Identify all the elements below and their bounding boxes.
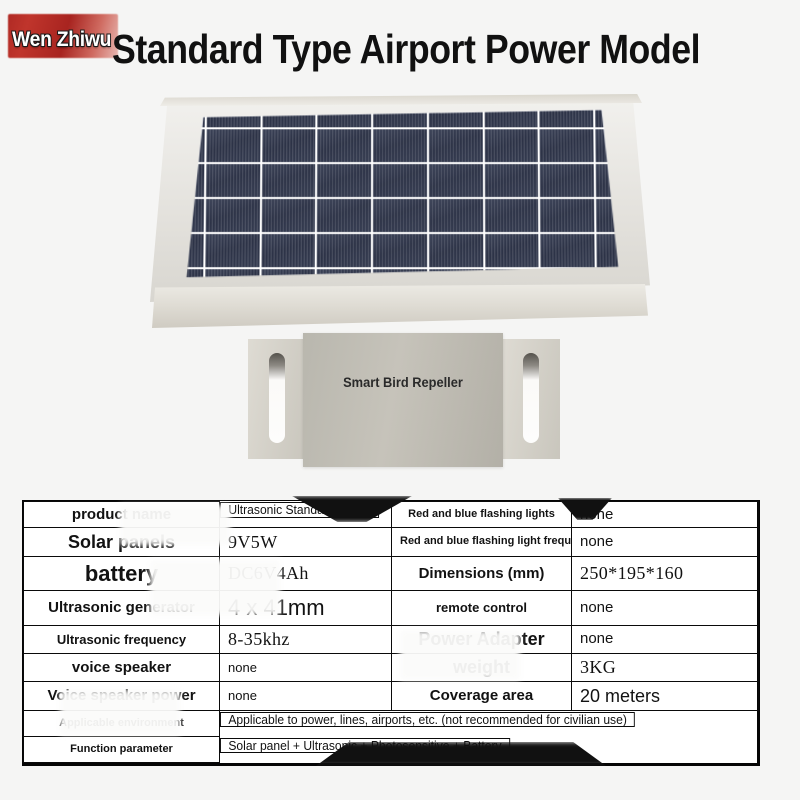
bracket-slot-icon bbox=[269, 353, 285, 443]
solar-cell bbox=[429, 129, 483, 162]
spec-label: Red and blue flashing light frequency bbox=[392, 528, 572, 556]
solar-cell bbox=[205, 199, 259, 232]
solar-cell bbox=[262, 164, 316, 197]
spec-label: Ultrasonic frequency bbox=[24, 625, 220, 653]
table-row: product nameUltrasonic Standard ModelRed… bbox=[24, 502, 759, 528]
spec-value: 20 meters bbox=[572, 682, 759, 710]
table-row: Solar panels9V5WRed and blue flashing li… bbox=[24, 528, 759, 556]
solar-cell bbox=[317, 199, 371, 232]
spec-value: none bbox=[220, 682, 392, 710]
spec-label: battery bbox=[24, 556, 220, 590]
spec-label: voice speaker bbox=[24, 654, 220, 682]
solar-cell bbox=[317, 234, 371, 267]
table-row: Ultrasonic generator4 x 41mmremote contr… bbox=[24, 591, 759, 625]
spec-value: 4 x 41mm bbox=[220, 591, 392, 625]
spec-value: none bbox=[572, 625, 759, 653]
solar-cell bbox=[373, 234, 427, 267]
device-housing: Smart Bird Repeller bbox=[303, 333, 503, 467]
spec-label: Function parameter bbox=[24, 737, 220, 763]
mounting-bracket-left bbox=[248, 339, 306, 459]
specification-table: product nameUltrasonic Standard ModelRed… bbox=[22, 500, 760, 766]
page-title: Standard Type Airport Power Model bbox=[112, 26, 700, 73]
solar-cell bbox=[485, 199, 539, 232]
spec-value: Solar panel + Ultrasonic + Photosensitiv… bbox=[220, 738, 510, 754]
solar-cell bbox=[484, 129, 538, 162]
spec-value: Ultrasonic Standard Model bbox=[220, 502, 379, 518]
solar-cell bbox=[373, 199, 427, 232]
solar-cell bbox=[485, 164, 539, 197]
spec-label: Applicable environment bbox=[24, 710, 220, 736]
spec-value: 3KG bbox=[572, 654, 759, 682]
mounting-bracket-right bbox=[502, 339, 560, 459]
product-spec-page: Wen Zhiwu Standard Type Airport Power Mo… bbox=[0, 0, 800, 800]
spec-value: none bbox=[572, 591, 759, 625]
solar-panel-assembly bbox=[150, 94, 650, 324]
table-row: Voice speaker powernoneCoverage area20 m… bbox=[24, 682, 759, 710]
solar-cell bbox=[261, 234, 315, 267]
spec-value: none bbox=[572, 528, 759, 556]
spec-value: 9V5W bbox=[220, 528, 392, 556]
solar-cell bbox=[373, 129, 427, 162]
solar-cell bbox=[429, 164, 483, 197]
spec-label: Red and blue flashing lights bbox=[392, 502, 572, 528]
spec-value: DC6V4Ah bbox=[220, 556, 392, 590]
brand-logo-label: Wen Zhiwu bbox=[12, 28, 108, 52]
solar-cell bbox=[373, 164, 427, 197]
spec-value: Applicable to power, lines, airports, et… bbox=[220, 712, 635, 728]
bracket-slot-icon bbox=[523, 353, 539, 443]
solar-cell bbox=[317, 164, 371, 197]
solar-cell bbox=[261, 199, 315, 232]
spec-value: 8-35khz bbox=[220, 625, 392, 653]
spec-label: remote control bbox=[392, 591, 572, 625]
spec-label: Power Adapter bbox=[392, 625, 572, 653]
spec-value: 250*195*160 bbox=[572, 556, 759, 590]
device-housing-label: Smart Bird Repeller bbox=[308, 375, 498, 390]
product-photo: Smart Bird Repeller bbox=[0, 86, 800, 496]
spec-label: Dimensions (mm) bbox=[392, 556, 572, 590]
spec-label: Solar panels bbox=[24, 528, 220, 556]
solar-cell bbox=[540, 129, 594, 162]
solar-cell bbox=[485, 234, 539, 267]
spec-label: product name bbox=[24, 502, 220, 528]
spec-label: Ultrasonic generator bbox=[24, 591, 220, 625]
table-row: batteryDC6V4AhDimensions (mm)250*195*160 bbox=[24, 556, 759, 590]
solar-cell bbox=[317, 129, 371, 162]
spec-label: Voice speaker power bbox=[24, 682, 220, 710]
solar-cell bbox=[206, 129, 260, 162]
spec-value: none bbox=[220, 654, 392, 682]
solar-cell bbox=[205, 234, 259, 267]
spec-label: weight bbox=[392, 654, 572, 682]
solar-cell bbox=[540, 199, 594, 232]
solar-cell bbox=[206, 164, 260, 197]
solar-cell bbox=[429, 234, 483, 267]
solar-cell bbox=[262, 129, 316, 162]
table-row: Applicable environmentApplicable to powe… bbox=[24, 710, 759, 736]
solar-cell bbox=[429, 199, 483, 232]
page-header: Wen Zhiwu Standard Type Airport Power Mo… bbox=[0, 0, 800, 95]
solar-cell bbox=[541, 234, 595, 267]
spec-value: none bbox=[572, 502, 759, 528]
table-row: Function parameterSolar panel + Ultrason… bbox=[24, 737, 759, 763]
solar-cell bbox=[540, 164, 594, 197]
solar-panel-front-edge bbox=[152, 284, 648, 328]
spec-label: Coverage area bbox=[392, 682, 572, 710]
table-row: Ultrasonic frequency8-35khzPower Adapter… bbox=[24, 625, 759, 653]
table-row: voice speakernoneweight3KG bbox=[24, 654, 759, 682]
